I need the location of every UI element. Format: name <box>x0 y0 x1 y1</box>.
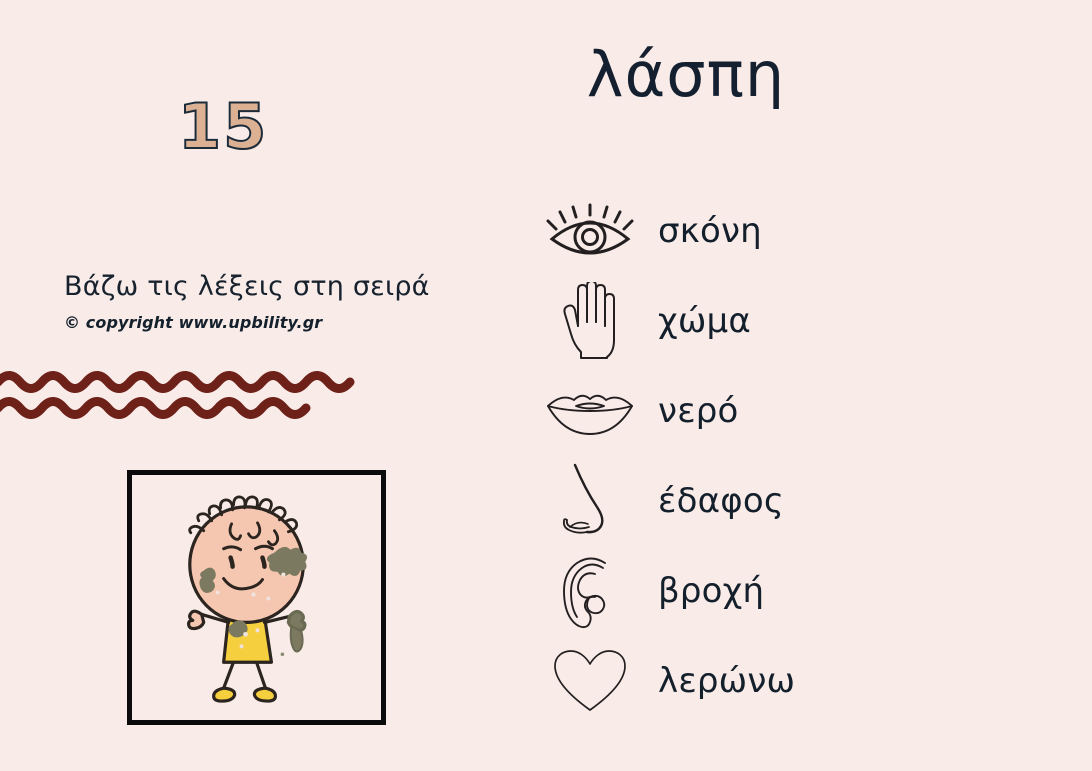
list-item[interactable]: λερώνω <box>530 636 950 726</box>
wavy-divider <box>0 358 394 422</box>
list-item[interactable]: έδαφος <box>530 456 950 546</box>
page-title: λάσπη <box>0 42 1092 107</box>
list-item[interactable]: βροχή <box>530 546 950 636</box>
muddy-child-illustration <box>132 475 381 720</box>
list-item[interactable]: χώμα <box>530 276 950 366</box>
wave-line-top <box>0 376 350 389</box>
copyright-text: © copyright www.upbility.gr <box>64 313 322 332</box>
word-list: σκόνη χώμα <box>530 186 950 726</box>
hand-icon <box>530 281 650 361</box>
worksheet-page: 15 λάσπη Βάζω τις λέξεις στη σειρά © cop… <box>0 0 1092 771</box>
list-item[interactable]: νερό <box>530 366 950 456</box>
word-label: βροχή <box>650 571 764 611</box>
word-label: νερό <box>650 391 739 431</box>
word-label: χώμα <box>650 301 751 341</box>
nose-icon <box>530 461 650 541</box>
eye-icon <box>530 191 650 271</box>
illustration-frame <box>127 470 386 725</box>
word-label: έδαφος <box>650 481 784 521</box>
list-item[interactable]: σκόνη <box>530 186 950 276</box>
wave-line-bottom <box>0 402 306 415</box>
lips-icon <box>530 371 650 451</box>
heart-icon <box>530 641 650 721</box>
word-label: λερώνω <box>650 661 795 701</box>
ear-icon <box>530 551 650 631</box>
instruction-text: Βάζω τις λέξεις στη σειρά <box>64 271 430 302</box>
word-label: σκόνη <box>650 211 762 251</box>
